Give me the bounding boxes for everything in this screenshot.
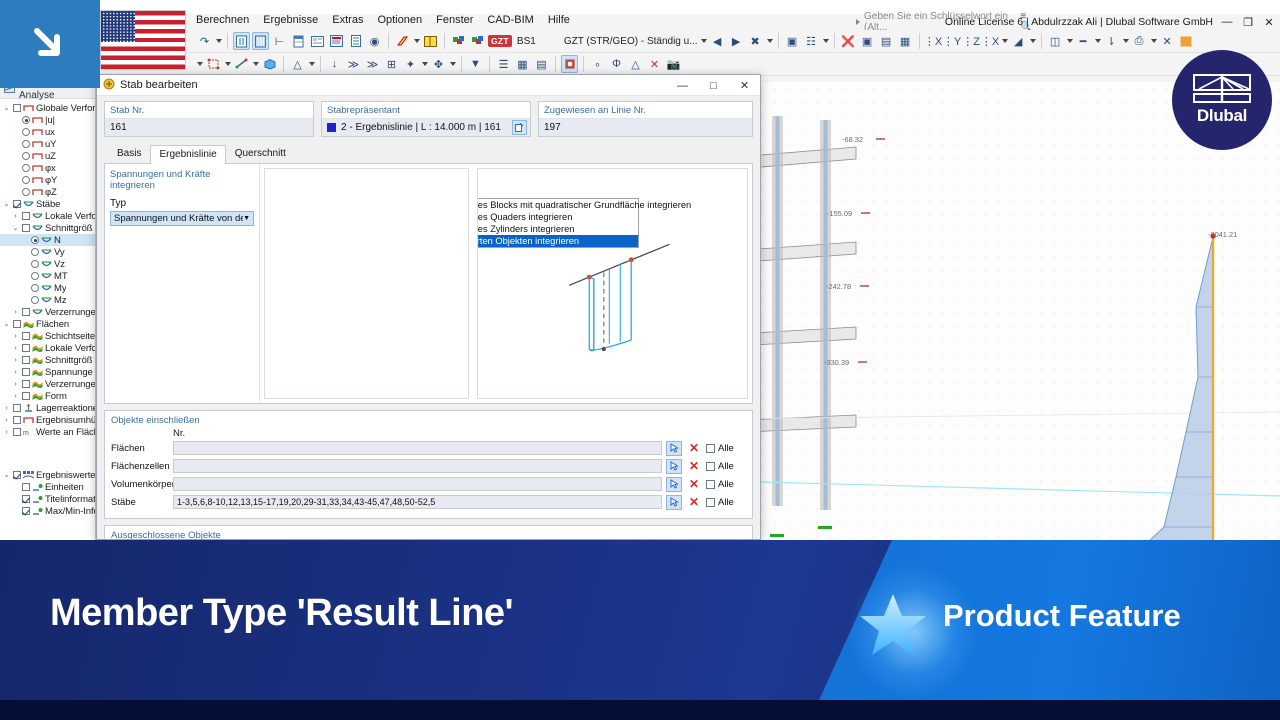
divider	[461, 56, 462, 72]
dialog-titlebar: Stab bearbeiten — □ ✕	[97, 75, 760, 96]
tree-item--y[interactable]: φY	[0, 174, 95, 186]
line-style-caret-icon[interactable]	[1095, 39, 1101, 43]
expander-icon[interactable]: ›	[11, 381, 20, 388]
model-label-tick	[876, 138, 885, 140]
tree-item-max-min-inform[interactable]: Max/Min-Inform	[0, 505, 95, 517]
list-icon[interactable]	[347, 32, 364, 50]
tab-querschnitt[interactable]: Querschnitt	[226, 144, 295, 163]
parameters-panel	[264, 168, 469, 399]
ruler-icon[interactable]: ☷	[803, 32, 820, 50]
include-nr-header: Nr.	[173, 428, 746, 439]
clear-results-icon[interactable]: ✕	[1159, 32, 1176, 50]
delete-results-caret-icon[interactable]	[767, 39, 773, 43]
typ-dropdown-list[interactable]: Spannungen und Kräfte innerhalb des Bloc…	[477, 198, 639, 248]
tree-item-mt[interactable]: MT	[0, 270, 95, 282]
tree-item-mz[interactable]: Mz	[0, 294, 95, 306]
dialog-maximize-button[interactable]: □	[698, 75, 729, 96]
chevron-down-icon: ▼	[243, 215, 250, 222]
printout-icon[interactable]	[309, 32, 326, 50]
tree-item-fl-chen[interactable]: ⌄Flächen	[0, 318, 95, 330]
tree-item-lagerreaktionen[interactable]: ›Lagerreaktionen	[0, 402, 95, 414]
checkbox[interactable]	[13, 104, 21, 112]
field-value-text: 2 - Ergebnislinie | L : 14.000 m | 161	[341, 122, 501, 133]
all-label: Alle	[718, 497, 734, 508]
exclude-objects-section: Ausgeschlossene Objekte Nr. Flächen✕	[104, 525, 753, 540]
print-caret-icon[interactable]	[1151, 39, 1157, 43]
group-label: Spannungen und Kräfte integrieren	[110, 169, 254, 191]
tree-item-vy[interactable]: Vy	[0, 246, 95, 258]
new-member-icon[interactable]	[233, 55, 250, 73]
tree-item-label: Schnittgröß	[45, 355, 92, 366]
view-y-icon[interactable]: ⋮Y	[944, 32, 961, 50]
expander-icon[interactable]: ›	[2, 405, 11, 412]
undo-icon[interactable]: ↷	[196, 32, 213, 50]
tree-item-werte-an-fl-che[interactable]: ›mWerte an Fläche	[0, 426, 95, 438]
delete-icon[interactable]: ✕	[646, 55, 663, 73]
deformation-icon	[32, 187, 43, 197]
menu-item-cad-bim[interactable]: CAD-BIM	[487, 14, 533, 26]
tree-item-label: uY	[45, 139, 56, 150]
radio-button[interactable]	[22, 188, 30, 196]
application-window: BerechnenErgebnisseExtrasOptionenFenster…	[0, 0, 1280, 540]
tree-item-verzerrunge[interactable]: ›Verzerrunge	[0, 306, 95, 318]
tree-item-label: uZ	[45, 151, 56, 162]
toolbar-row-1: ↷ ⊢ ◉	[0, 30, 1280, 53]
titlebar-right: Online License 6 | Abdulrzzak Ali | Dlub…	[945, 14, 1276, 30]
pick-icon[interactable]	[666, 495, 682, 510]
field-value-text: 197	[544, 122, 561, 133]
color-fill-icon[interactable]	[1178, 32, 1195, 50]
deformation-icon	[32, 151, 43, 161]
row-label: Flächenzellen	[111, 461, 169, 472]
view-cube-icon[interactable]: ▣	[859, 32, 876, 50]
radio-button[interactable]	[31, 272, 39, 280]
render-wire-icon[interactable]	[252, 32, 269, 50]
menu-item-ergebnisse[interactable]: Ergebnisse	[263, 14, 318, 26]
all-label: Alle	[718, 461, 734, 472]
nodal-load-icon[interactable]: ↓	[326, 55, 343, 73]
table-icon[interactable]	[290, 32, 307, 50]
typ-option-3[interactable]: Spannungen und Kräfte von definierten Ob…	[477, 235, 638, 247]
tree-item-label: Einheiten	[45, 482, 84, 493]
tree-item-spannunge[interactable]: ›Spannunge	[0, 366, 95, 378]
tree-item-st-be[interactable]: ⌄Stäbe	[0, 198, 95, 210]
dialog-field-2: Zugewiesen an Linie Nr.197	[538, 101, 753, 137]
checkbox[interactable]	[13, 416, 21, 424]
tree-item-titelinformation[interactable]: Titelinformation	[0, 493, 95, 505]
object-row-stäbe: Stäbe1-3,5,6,8-10,12,13,15-17,19,20,29-3…	[111, 494, 746, 510]
field-value-text: 161	[110, 122, 127, 133]
menu-item-optionen[interactable]: Optionen	[377, 14, 422, 26]
field-value[interactable]: 161	[105, 118, 313, 136]
svg-text:m: m	[23, 430, 29, 437]
dialog-field-1: Stabrepräsentant2 - Ergebnislinie | L : …	[321, 101, 531, 137]
checkbox[interactable]	[22, 356, 30, 364]
tree-item-label: Spannunge	[45, 367, 93, 378]
clear-icon[interactable]: ✕	[686, 459, 702, 474]
pick-object-icon[interactable]	[512, 120, 527, 135]
clear-icon[interactable]: ✕	[686, 477, 702, 492]
dialog-window-buttons: — □ ✕	[667, 75, 760, 96]
result-table-icon[interactable]: ▤	[533, 55, 550, 73]
menu-item-extras[interactable]: Extras	[332, 14, 363, 26]
member-load-icon[interactable]: ≫	[364, 55, 381, 73]
radio-button[interactable]	[31, 284, 39, 292]
nodal-support-icon[interactable]: △	[289, 55, 306, 73]
object-row-volumenkörper: Volumenkörper✕Alle	[111, 476, 746, 492]
tree-item-einheiten[interactable]: Einheiten	[0, 481, 95, 493]
render-solid-icon[interactable]	[233, 32, 250, 50]
tree-item-label: Form	[45, 391, 67, 402]
preview-3d-panel[interactable]: Spannungen und Kräfte innerhalb des Bloc…	[477, 168, 748, 399]
tree-item-schnittgr-[interactable]: ›Schnittgröß	[0, 354, 95, 366]
print-icon[interactable]: ⎙	[1131, 32, 1148, 50]
imperfection-icon[interactable]: ✥	[430, 55, 447, 73]
dialog-title: Stab bearbeiten	[120, 79, 198, 91]
checkbox[interactable]	[22, 344, 30, 352]
minimize-button[interactable]: —	[1220, 15, 1234, 29]
row2-caret-icon[interactable]	[197, 62, 203, 66]
checkbox[interactable]	[22, 507, 30, 515]
all-label: Alle	[718, 479, 734, 490]
tree-item-label: φZ	[45, 187, 57, 198]
surface-icon	[32, 367, 43, 377]
radio-button[interactable]	[22, 140, 30, 148]
new-solid-icon[interactable]	[261, 55, 278, 73]
tree-item-schnittgr-[interactable]: ⌄Schnittgröß	[0, 222, 95, 234]
checkbox[interactable]	[13, 320, 21, 328]
all-checkbox-group[interactable]: Alle	[706, 461, 746, 472]
tree-item-label: Schnittgröß	[45, 223, 92, 234]
result-section-icon[interactable]: ▦	[514, 55, 531, 73]
tree-item-label: Verzerrunge	[45, 307, 95, 318]
expander-icon[interactable]: ›	[11, 213, 20, 220]
expander-icon[interactable]: ›	[2, 417, 11, 424]
mirror-icon[interactable]: Φ	[608, 55, 625, 73]
divider	[583, 56, 584, 72]
load-combination-caret-icon[interactable]	[701, 39, 707, 43]
navigator-panel[interactable]: Statische Analyse ⌄Globale Verform|u|uxu…	[0, 82, 96, 540]
expander-icon[interactable]: ⌄	[2, 320, 11, 328]
globe-icon[interactable]: ◉	[366, 32, 383, 50]
result-line-icon[interactable]	[561, 55, 578, 73]
tree-item-label: N	[54, 235, 61, 246]
menu-item-berechnen[interactable]: Berechnen	[196, 14, 249, 26]
divider	[778, 33, 779, 49]
tree-item-ux[interactable]: ux	[0, 126, 95, 138]
row-input[interactable]	[173, 477, 662, 491]
navigator-tree[interactable]: ⌄Globale Verform|u|uxuYuZφxφYφZ⌄Stäbe›Lo…	[0, 99, 95, 438]
clear-icon[interactable]: ✕	[686, 495, 702, 510]
bs-label: BS1	[517, 36, 536, 47]
expander-icon[interactable]: ›	[11, 309, 20, 316]
tree-item-lokale-verfo[interactable]: ›Lokale Verfo	[0, 210, 95, 222]
new-member-caret-icon[interactable]	[253, 62, 259, 66]
radio-button[interactable]	[22, 164, 30, 172]
radio-button[interactable]	[31, 248, 39, 256]
member-icon	[32, 211, 43, 221]
results-icon	[23, 470, 34, 480]
tree-item-label: Lokale Verfo	[45, 211, 95, 222]
typ-select-value: Spannungen und Kräfte von defi...	[114, 213, 243, 224]
tree-item-ergebnisumh-ll[interactable]: ›Ergebnisumhüll	[0, 414, 95, 426]
typ-option-0[interactable]: Spannungen und Kräfte innerhalb des Bloc…	[477, 199, 638, 211]
member-icon	[32, 307, 43, 317]
close-button[interactable]: ✕	[1262, 15, 1276, 29]
banner-subtitle: Product Feature	[943, 598, 1181, 634]
member-icon	[41, 259, 52, 269]
restore-button[interactable]: ❐	[1241, 15, 1255, 29]
info-icon	[32, 506, 43, 516]
prev-icon[interactable]: ◀	[709, 32, 726, 50]
next-icon[interactable]: ▶	[728, 32, 745, 50]
tree-item-label: Werte an Fläche	[36, 427, 95, 438]
banner-title: Member Type 'Result Line'	[50, 592, 513, 635]
divider	[489, 56, 490, 72]
divider	[388, 33, 389, 49]
radio-button[interactable]	[22, 176, 30, 184]
tree-item-label: Stäbe	[36, 199, 60, 210]
tree-item-uy[interactable]: uY	[0, 138, 95, 150]
checkbox[interactable]	[13, 471, 21, 479]
all-checkbox[interactable]	[706, 462, 715, 471]
tree-item--u-[interactable]: |u|	[0, 114, 95, 126]
edit-member-dialog[interactable]: Stab bearbeiten — □ ✕ Stab Nr.161Stabrep…	[96, 74, 761, 540]
tree-item-lokale-verfo[interactable]: ›Lokale Verfo	[0, 342, 95, 354]
tree-item-label: Ergebniswerte	[36, 470, 95, 481]
ruler-caret-icon[interactable]	[823, 39, 829, 43]
model-label: -68.32	[842, 135, 863, 144]
symmetry-icon[interactable]: △	[627, 55, 644, 73]
all-checkbox-group[interactable]: Alle	[706, 479, 746, 490]
pick-icon[interactable]	[666, 477, 682, 492]
menu-item-fenster[interactable]: Fenster	[436, 14, 473, 26]
undo-caret-icon[interactable]	[216, 39, 222, 43]
nodal-support-caret-icon[interactable]	[309, 62, 315, 66]
navigator-spacer	[0, 438, 95, 466]
measure-icon[interactable]: ∘	[589, 55, 606, 73]
field-caption: Stab Nr.	[105, 102, 313, 118]
navigator-tree-results[interactable]: ⌄ErgebniswerteEinheitenTitelinformationM…	[0, 466, 95, 517]
toolbar-row-2: △ ↓ ≫ ≫ ⊞ ✦ ✥ ▼ ☰ ▦ ▤ ∘ Φ △ ✕ 📷	[0, 53, 1280, 76]
member-icon	[41, 295, 52, 305]
expander-icon[interactable]: ›	[11, 369, 20, 376]
radio-button[interactable]	[31, 296, 39, 304]
grid-table-icon[interactable]	[422, 32, 439, 50]
surface-icon	[32, 379, 43, 389]
checkbox[interactable]	[13, 428, 21, 436]
snap-icon[interactable]: ▣	[784, 32, 801, 50]
deformation-icon	[32, 139, 43, 149]
dialog-minimize-button[interactable]: —	[667, 75, 698, 96]
expander-icon[interactable]: ›	[11, 393, 20, 400]
exclude-section-title: Ausgeschlossene Objekte	[111, 530, 746, 540]
section-caret-icon[interactable]	[414, 39, 420, 43]
line-style-icon[interactable]: ━	[1075, 32, 1092, 50]
view-iso-icon[interactable]: ⋮X	[982, 32, 999, 50]
render-mode-caret-icon[interactable]	[1030, 39, 1036, 43]
tree-item--x[interactable]: φx	[0, 162, 95, 174]
row-input[interactable]	[173, 441, 662, 455]
tree-item-label: Globale Verform	[36, 103, 95, 114]
scale-caret-icon[interactable]	[1123, 39, 1129, 43]
dialog-close-button[interactable]: ✕	[729, 75, 760, 96]
expander-icon[interactable]: ›	[11, 333, 20, 340]
expander-icon[interactable]: ›	[11, 357, 20, 364]
expander-icon[interactable]: ›	[11, 345, 20, 352]
report-icon[interactable]	[328, 32, 345, 50]
checkbox[interactable]	[22, 368, 30, 376]
tree-item-label: Lokale Verfo	[45, 343, 95, 354]
checkbox[interactable]	[22, 495, 30, 503]
filter-icon[interactable]: ▼	[467, 55, 484, 73]
typ-option-1[interactable]: Spannungen und Kräfte innerhalb des Quad…	[477, 211, 638, 223]
tree-item-vz[interactable]: Vz	[0, 258, 95, 270]
layers-icon[interactable]: ◫	[1047, 32, 1064, 50]
radio-button[interactable]	[22, 152, 30, 160]
section-icon[interactable]	[394, 32, 411, 50]
loadcase-next-icon[interactable]	[469, 32, 486, 50]
surface-icon	[32, 343, 43, 353]
clear-icon[interactable]: ✕	[686, 441, 702, 456]
field-value[interactable]: 197	[539, 118, 752, 136]
dialog-body: Stab Nr.161Stabrepräsentant2 - Ergebnisl…	[97, 96, 760, 539]
member-icon	[41, 235, 52, 245]
all-checkbox[interactable]	[706, 498, 715, 507]
expander-icon[interactable]: ⌄	[2, 104, 11, 112]
select-objects-icon[interactable]: ❌	[840, 32, 857, 50]
expander-icon[interactable]: ⌄	[2, 471, 11, 479]
dlubal-wordmark: Dlubal	[1197, 106, 1247, 126]
tree-item-form[interactable]: ›Form	[0, 390, 95, 402]
view-caret-icon[interactable]	[1002, 39, 1008, 43]
tree-item-label: Ergebnisumhüll	[36, 415, 95, 426]
free-load-caret-icon[interactable]	[422, 62, 428, 66]
expander-icon[interactable]: ⌄	[2, 200, 11, 208]
dialog-tabs[interactable]: BasisErgebnislinieQuerschnitt	[104, 144, 753, 164]
truss-icon	[1193, 74, 1251, 104]
tree-item-label: My	[54, 283, 66, 294]
dialog-tab-content: Spannungen und Kräfte integrieren Typ Sp…	[104, 164, 753, 404]
model-label-tick	[860, 285, 869, 287]
divider	[919, 33, 920, 49]
tree-item-schichtseite[interactable]: ›Schichtseite	[0, 330, 95, 342]
member-icon	[41, 283, 52, 293]
all-checkbox[interactable]	[706, 480, 715, 489]
dialog-field-0: Stab Nr.161	[104, 101, 314, 137]
radio-button[interactable]	[31, 260, 39, 268]
checkbox[interactable]	[22, 212, 30, 220]
row-label: Volumenkörper	[111, 479, 169, 490]
load-combination-select[interactable]: GZT (STR/GEO) - Ständig u...	[564, 36, 698, 47]
expander-icon[interactable]: ›	[2, 429, 11, 436]
camera-icon[interactable]: 📷	[665, 55, 682, 73]
row-label: Flächen	[111, 443, 169, 454]
all-checkbox-group[interactable]: Alle	[706, 497, 746, 508]
radio-button[interactable]	[22, 128, 30, 136]
divider	[283, 56, 284, 72]
member-icon	[23, 199, 34, 209]
dialog-field-group: Stab Nr.161Stabrepräsentant2 - Ergebnisl…	[104, 101, 753, 137]
typ-option-2[interactable]: Spannungen und Kräfte innerhalb des Zyli…	[477, 223, 638, 235]
tree-item-verzerrunge[interactable]: ›Verzerrunge	[0, 378, 95, 390]
color-swatch	[327, 123, 336, 132]
all-checkbox-group[interactable]: Alle	[706, 443, 746, 454]
view-x-icon[interactable]: ⋮X	[925, 32, 942, 50]
new-node-icon[interactable]	[205, 55, 222, 73]
row-input[interactable]: 1-3,5,6,8-10,12,13,15-17,19,20,29-31,33,…	[173, 495, 662, 509]
tree-item-label: Vy	[54, 247, 65, 258]
tree-item-my[interactable]: My	[0, 282, 95, 294]
checkbox[interactable]	[22, 483, 30, 491]
layers-caret-icon[interactable]	[1067, 39, 1073, 43]
member-icon	[32, 223, 43, 233]
radio-button[interactable]	[22, 116, 30, 124]
edit-view-icon[interactable]: ▤	[878, 32, 895, 50]
dlubal-logo: Dlubal	[1172, 50, 1272, 150]
model-label-tick	[858, 361, 867, 363]
checkbox[interactable]	[22, 332, 30, 340]
pick-icon[interactable]	[666, 441, 682, 456]
checkbox[interactable]	[13, 404, 21, 412]
result-diagram-icon[interactable]: ☰	[495, 55, 512, 73]
loadcase-prev-icon[interactable]	[450, 32, 467, 50]
envelope-icon	[23, 415, 34, 425]
tab-basis[interactable]: Basis	[108, 144, 150, 163]
tree-item--z[interactable]: φZ	[0, 186, 95, 198]
tree-item-label: |u|	[45, 115, 55, 126]
new-node-caret-icon[interactable]	[225, 62, 231, 66]
row-label: Stäbe	[111, 497, 169, 508]
checkbox[interactable]	[22, 380, 30, 388]
checkbox[interactable]	[22, 308, 30, 316]
tree-item-ergebniswerte[interactable]: ⌄Ergebniswerte	[0, 469, 95, 481]
radio-button[interactable]	[31, 236, 39, 244]
deformation-icon	[32, 127, 43, 137]
checkbox[interactable]	[22, 392, 30, 400]
typ-select[interactable]: Spannungen und Kräfte von defi... ▼	[110, 211, 254, 226]
delete-results-icon[interactable]: ✖	[747, 32, 764, 50]
include-objects-section: Objekte einschließen Nr. Flächen✕AlleFlä…	[104, 410, 753, 519]
divider	[227, 33, 228, 49]
all-checkbox[interactable]	[706, 444, 715, 453]
surface-load-icon[interactable]: ⊞	[383, 55, 400, 73]
pick-icon[interactable]	[666, 459, 682, 474]
deformation-icon	[23, 103, 34, 113]
dimension-icon[interactable]: ⊢	[271, 32, 288, 50]
checkbox[interactable]	[13, 200, 21, 208]
checkbox[interactable]	[22, 224, 30, 232]
scale-icon[interactable]: ⇂	[1103, 32, 1120, 50]
tree-item-globale-verform[interactable]: ⌄Globale Verform	[0, 102, 95, 114]
tree-item-uz[interactable]: uZ	[0, 150, 95, 162]
tree-item-label: Verzerrunge	[45, 379, 95, 390]
tree-item-n[interactable]: N	[0, 234, 95, 246]
view-z-icon[interactable]: ⋮Z	[963, 32, 980, 50]
visibility-icon[interactable]: ▦	[897, 32, 914, 50]
menu-item-hilfe[interactable]: Hilfe	[548, 14, 570, 26]
member-icon	[41, 247, 52, 257]
expander-icon[interactable]: ⌄	[11, 224, 20, 232]
line-load-icon[interactable]: ≫	[345, 55, 362, 73]
dialog-app-icon	[103, 78, 115, 93]
render-mode-icon[interactable]: ◢	[1010, 32, 1027, 50]
free-load-icon[interactable]: ✦	[402, 55, 419, 73]
row-input[interactable]	[173, 459, 662, 473]
field-value[interactable]: 2 - Ergebnislinie | L : 14.000 m | 161	[322, 118, 530, 136]
imperfection-caret-icon[interactable]	[450, 62, 456, 66]
tab-ergebnislinie[interactable]: Ergebnislinie	[150, 145, 225, 164]
